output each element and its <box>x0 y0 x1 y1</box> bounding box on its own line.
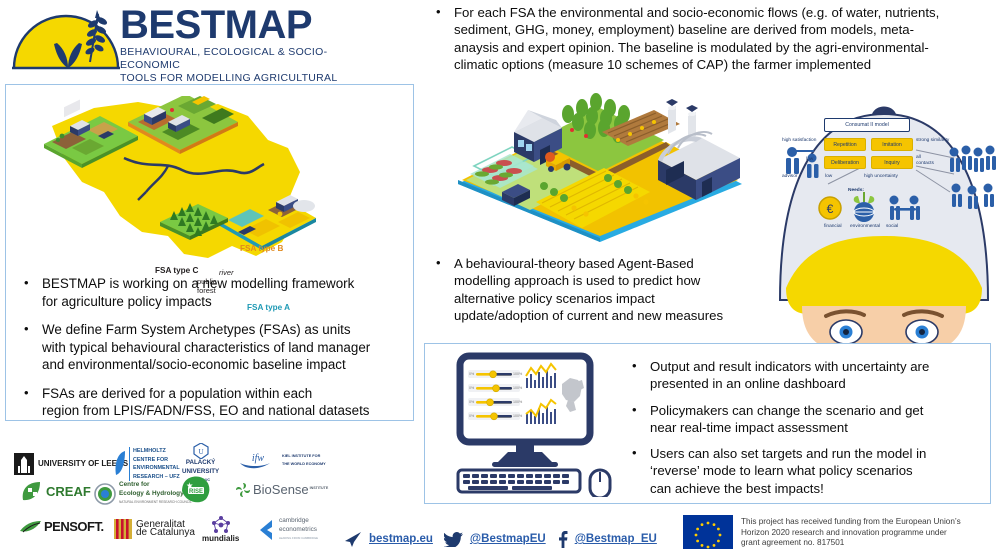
creaf-leaf-icon <box>20 481 44 503</box>
consumat-needs-title: Needs: <box>848 188 864 193</box>
consumat-label-advisor: advisor <box>782 174 797 179</box>
bullet-line: update/adoption of current and new measu… <box>454 307 762 324</box>
consumat-label-high-uncertainty: high uncertainty <box>864 174 898 179</box>
dashboard-bullet-list: Output and result indicators with uncert… <box>628 358 978 506</box>
consumat-label-low-bottom: low <box>825 174 832 179</box>
bestmap-logo-mark <box>10 6 126 78</box>
partner-label: cambridge <box>279 517 318 526</box>
poster-page: BESTMAP Behavioural, Ecological & Socio-… <box>0 0 1000 560</box>
partner-logo-rise-foundation: RISE <box>178 475 212 505</box>
monitor-svg <box>438 352 628 497</box>
consumat-need-label-financial: financial <box>824 224 842 229</box>
consumat-label-all-contacts-line2: contacts <box>916 161 934 166</box>
eu-funding-statement: This project has received funding from t… <box>683 515 995 557</box>
fsa-bullet-list: BESTMAP is working on a new modelling fr… <box>20 275 405 431</box>
list-item: FSAs are derived for a population within… <box>20 385 405 420</box>
consumat-label-low-left: low <box>806 157 813 162</box>
eu-funding-text: This project has received funding from t… <box>741 515 961 549</box>
slider-max-label: 100% <box>513 400 522 404</box>
bullet-line: ‘reverse’ mode to learn what policy scen… <box>650 462 978 479</box>
consumat-label-all-contacts-line1: all <box>916 155 921 160</box>
bullet-line: A behavioural-theory based Agent-Based <box>454 255 762 272</box>
partner-label: de Catalunya <box>136 529 195 538</box>
consumat-quadrant-imitation: Imitation <box>871 138 913 151</box>
bullet-line: BESTMAP is working on a new modelling fr… <box>42 275 405 293</box>
partner-logo-generalitat-catalunya: Generalitat de Catalunya <box>114 519 195 539</box>
partner-logo-helmholtz-ufz: HELMHOLTZ CENTRE FOR ENVIRONMENTAL RESEA… <box>114 447 180 481</box>
palacky-crest-icon: U <box>193 443 209 459</box>
map-label-fsa-c: FSA type C <box>155 266 198 275</box>
link-facebook-handle[interactable]: @Bestmap_EU <box>575 533 657 545</box>
footer-social-links: bestmap.eu @BestmapEU @Bestmap_EU <box>345 526 675 552</box>
partner-label: RESEARCH – UFZ <box>133 473 180 482</box>
bullet-line: Policymakers can change the scenario and… <box>650 402 978 419</box>
bullet-line: alternative policy scenarios impact <box>454 290 762 307</box>
partner-label: ENVIRONMENTAL <box>133 464 180 473</box>
bestmap-logo: BESTMAP Behavioural, Ecological & Socio-… <box>8 4 348 80</box>
list-item: Policymakers can change the scenario and… <box>628 402 978 437</box>
partner-logo-pensoft: PENSOFT. <box>20 519 104 535</box>
consumat-label-all-contacts: all contacts <box>916 155 934 166</box>
abm-bullet-list: A behavioural-theory based Agent-Based m… <box>432 255 762 324</box>
list-item: For each FSA the environmental and socio… <box>432 4 994 73</box>
bullet-line: near real-time impact assessment <box>650 419 978 436</box>
bullet-line: region from LPIS/FADN/FSS, EO and nation… <box>42 402 405 420</box>
partner-label: CENTRE FOR <box>133 456 180 465</box>
partner-label: KIEL INSTITUTE FOR <box>282 452 326 461</box>
ifw-wave-icon: ifw <box>240 449 280 471</box>
need-environmental-icon <box>854 192 875 222</box>
partner-label: econometrics <box>279 526 318 535</box>
consumat-need-label-environmental: environmental <box>850 224 880 229</box>
bullet-line: presented in an online dashboard <box>650 375 978 392</box>
catalunya-flag-icon <box>114 519 132 539</box>
helmholtz-leaf-icon <box>114 451 126 477</box>
svg-text:RISE: RISE <box>189 489 203 495</box>
paper-plane-icon <box>345 532 362 547</box>
slider-max-label: 100% <box>513 414 522 418</box>
bullet-line: can achieve the best impacts! <box>650 480 978 497</box>
svg-text:ifw: ifw <box>252 453 265 464</box>
eu-flag-icon <box>683 515 733 549</box>
ceh-roundel-icon <box>94 483 116 505</box>
bullet-line: for agriculture policy impacts <box>42 293 405 311</box>
partner-logo-ifw-kiel: ifw KIEL INSTITUTE FOR THE WORLD ECONOMY <box>240 449 326 471</box>
map-label-fsa-b: FSA type B <box>240 244 283 253</box>
consumat-label-high-satisfaction: high satisfaction <box>782 138 816 143</box>
partner-logo-mundialis: mundialis <box>202 515 239 544</box>
consumat-quadrant-deliberation: Deliberation <box>824 156 866 169</box>
bullet-line: Output and result indicators with uncert… <box>650 358 978 375</box>
brand-name: BESTMAP <box>120 4 348 46</box>
partner-label: THE WORLD ECONOMY <box>282 460 326 469</box>
slider-min-label: 0% <box>469 386 474 390</box>
brand-tagline-line1: Behavioural, Ecological & Socio-economic <box>120 46 348 72</box>
slider-min-label: 0% <box>469 414 474 418</box>
bullet-line: For each FSA the environmental and socio… <box>454 4 994 21</box>
facebook-icon <box>557 531 568 548</box>
mundialis-network-icon <box>210 515 232 535</box>
bullet-line: modelling approach is used to predict ho… <box>454 272 762 289</box>
consumat-need-label-social: social <box>886 224 898 229</box>
partner-label: HELMHOLTZ <box>133 447 180 456</box>
bullet-line: Users can also set targets and run the m… <box>650 445 978 462</box>
link-twitter-handle[interactable]: @BestmapEU <box>470 533 546 545</box>
list-item: Output and result indicators with uncert… <box>628 358 978 393</box>
eu-funding-line1: This project has received funding from t… <box>741 517 961 528</box>
bullet-line: and environmental/socio-economic baselin… <box>42 356 405 374</box>
consumat-head-illustration: € Consumat II model Repetition Imitation… <box>768 100 1000 348</box>
consumat-quadrant-inquiry: Inquiry <box>871 156 913 169</box>
twitter-icon <box>444 532 463 547</box>
partner-label: PENSOFT. <box>44 523 104 532</box>
bullet-line: with typical behavioural characteristics… <box>42 339 405 357</box>
partner-label: mundialis <box>202 535 239 544</box>
partner-logo-creaf: CREAF <box>20 481 91 503</box>
list-item: Users can also set targets and run the m… <box>628 445 978 497</box>
slider-max-label: 100% <box>513 386 522 390</box>
slider-min-label: 0% <box>469 400 474 404</box>
bullet-line: FSAs are derived for a population within… <box>42 385 405 403</box>
bullet-line: sediment, GHG, money, employment) baseli… <box>454 21 994 38</box>
fsa-flows-bullet-list: For each FSA the environmental and socio… <box>432 4 994 73</box>
partner-label: LEADING FROM CAMBRIDGE <box>279 534 318 543</box>
dashboard-monitor-illustration: 0% 100% 0% 100% 0% 100% 0% 100% <box>438 352 628 497</box>
biosense-pinwheel-icon <box>234 481 252 499</box>
partner-logo-biosense: BioSense INSTITUTE <box>234 481 328 499</box>
farm-isometric-illustration <box>450 88 750 248</box>
farm-svg <box>450 88 750 248</box>
partner-logo-university-of-leeds: UNIVERSITY OF LEEDS <box>14 453 128 475</box>
consumat-quadrant-repetition: Repetition <box>824 138 866 151</box>
slider-min-label: 0% <box>469 372 474 376</box>
partner-logos: UNIVERSITY OF LEEDS HELMHOLTZ CENTRE FOR… <box>6 425 336 555</box>
partner-label: INSTITUTE <box>310 484 329 493</box>
belgium-map-svg <box>42 96 372 281</box>
list-item: We define Farm System Archetypes (FSAs) … <box>20 321 405 374</box>
slider-max-label: 100% <box>513 372 522 376</box>
svg-text:U: U <box>198 448 203 456</box>
pensoft-leaf-icon <box>20 519 42 535</box>
rise-blob-icon: RISE <box>178 475 212 505</box>
partner-label: PALACKÝ <box>186 459 215 468</box>
list-item: BESTMAP is working on a new modelling fr… <box>20 275 405 310</box>
partner-logo-cambridge-econometrics: cambridge econometrics LEADING FROM CAMB… <box>258 517 318 543</box>
svg-text:€: € <box>827 202 834 216</box>
list-item: A behavioural-theory based Agent-Based m… <box>432 255 762 324</box>
link-bestmap-eu[interactable]: bestmap.eu <box>369 533 433 545</box>
bullet-line: We define Farm System Archetypes (FSAs) … <box>42 321 405 339</box>
belgium-fsa-map-illustration: FSA type C FSA type B FSA type A river p… <box>42 96 372 281</box>
partner-label: CREAF <box>46 488 91 497</box>
consumat-label-strong-similarity: strong similarity <box>916 138 949 143</box>
partner-label: BioSense <box>253 486 309 495</box>
eu-funding-line2: Horizon 2020 research and innovation pro… <box>741 528 961 539</box>
cambridge-econometrics-chevron-icon <box>258 520 276 540</box>
eu-funding-line3: grant agreement no. 817501 <box>741 538 961 549</box>
leeds-crest-icon <box>14 453 34 475</box>
bullet-line: anaysis and expert opinion. The baseline… <box>454 39 994 56</box>
need-financial-icon: € <box>819 197 841 219</box>
bullet-line: climatic options (measure 10 schemes of … <box>454 56 994 73</box>
consumat-title: Consumat II model <box>824 118 910 132</box>
